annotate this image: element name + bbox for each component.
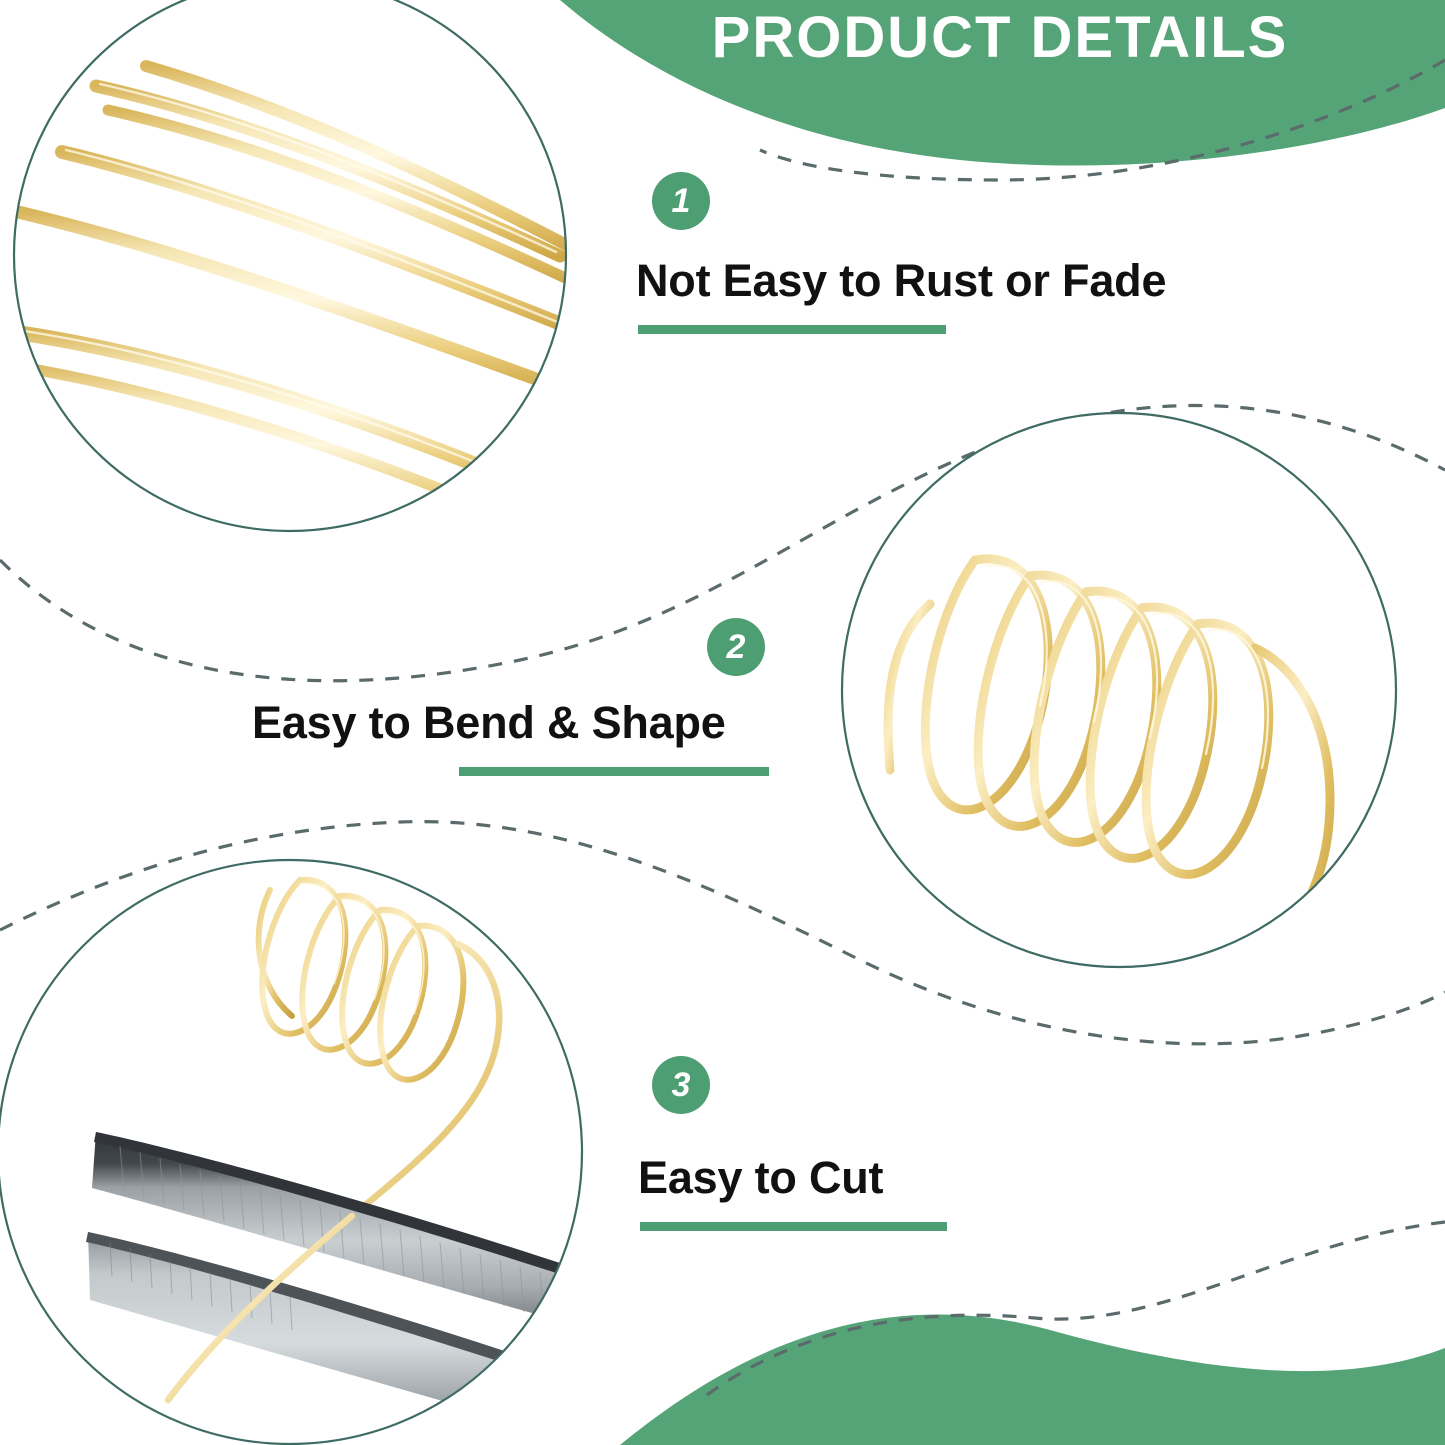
page-title: PRODUCT DETAILS (620, 8, 1380, 69)
feature-title-1: Not Easy to Rust or Fade (636, 255, 1166, 307)
feature-underline-1 (638, 325, 946, 334)
feature-title-2: Easy to Bend & Shape (252, 697, 726, 749)
number-one-badge: 1 (652, 172, 710, 230)
feature-underline-3 (640, 1222, 947, 1231)
feature-underline-2 (459, 767, 769, 776)
number-two-badge: 2 (707, 618, 765, 676)
product-details-infographic: PRODUCT DETAILS 1 Not Easy to Rust or Fa… (0, 0, 1445, 1445)
feature-title-3: Easy to Cut (638, 1152, 883, 1204)
content-layer: PRODUCT DETAILS 1 Not Easy to Rust or Fa… (0, 0, 1445, 1445)
number-three-badge: 3 (652, 1056, 710, 1114)
